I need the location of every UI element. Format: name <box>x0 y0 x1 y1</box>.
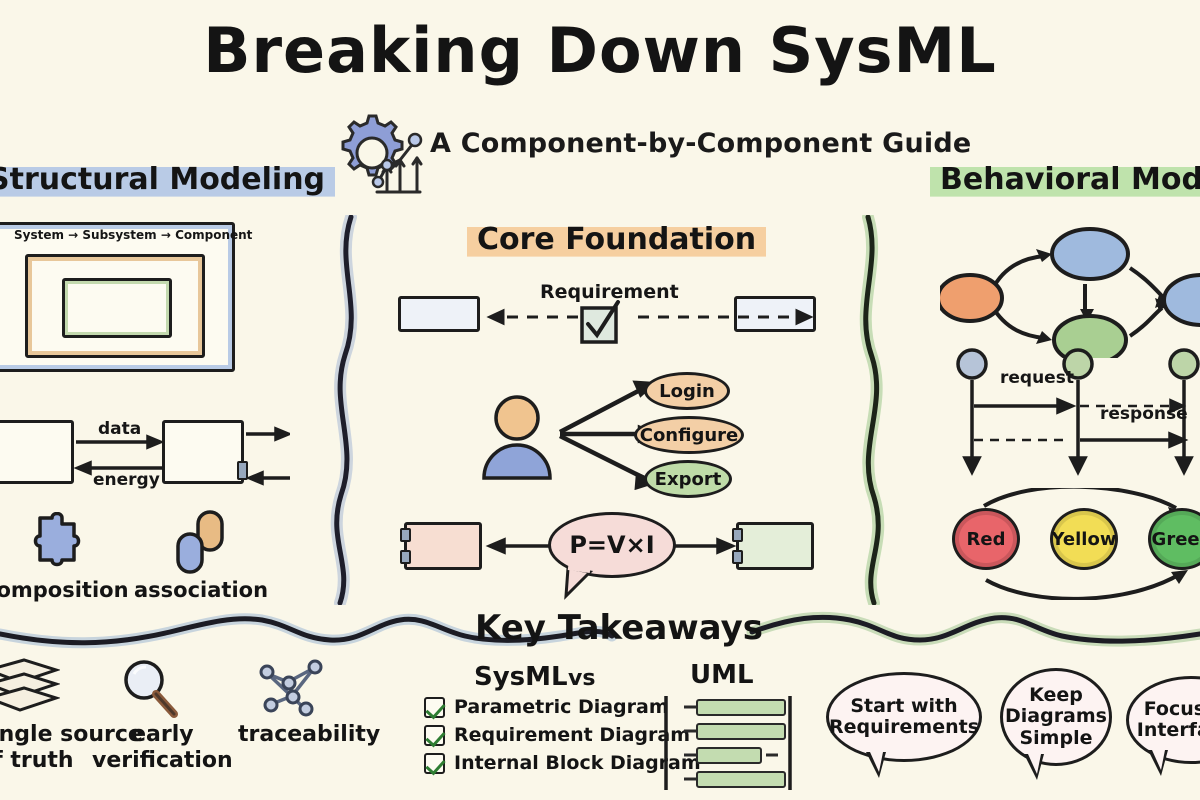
divider-left-wavy <box>315 215 385 605</box>
bdd-inner-box <box>62 278 172 338</box>
state-red[interactable]: Red <box>952 508 1020 570</box>
tip-bubble-keep-diagrams-simple[interactable]: Keep Diagrams Simple <box>1000 668 1112 766</box>
tip-bubble-tail <box>866 752 886 778</box>
divider-right-wavy <box>838 215 908 605</box>
actor-icon <box>478 394 556 480</box>
relationship-label-composition: composition <box>0 578 129 602</box>
parametric-constraint-text: P=V×I <box>569 531 654 559</box>
check-icon <box>424 725 445 746</box>
comparison-item: Requirement Diagram <box>424 724 701 746</box>
sequence-message-request: request <box>1000 368 1074 388</box>
state-yellow[interactable]: Yellow <box>1050 508 1118 570</box>
use-case-label: Login <box>659 381 715 402</box>
puzzle-piece-icon <box>18 512 82 576</box>
check-icon <box>424 697 445 718</box>
requirement-trace-arrows <box>478 300 818 336</box>
uml-bar <box>696 747 762 764</box>
uml-bar <box>696 699 786 716</box>
takeaways-heading: Key Takeaways <box>475 608 763 648</box>
section-heading-structural: Structural Modeling <box>0 162 335 200</box>
parametric-port <box>400 550 411 564</box>
parametric-block-right <box>736 522 814 570</box>
use-case-login[interactable]: Login <box>644 372 730 410</box>
section-heading-behavioral: Behavioral Modeling <box>930 162 1200 200</box>
gear-chart-icon <box>325 108 425 200</box>
state-label: Yellow <box>1052 529 1117 550</box>
chain-link-icon <box>168 508 232 578</box>
ibd-flow-back-label: energy <box>93 470 160 490</box>
section-heading-core: Core Foundation <box>467 222 766 260</box>
use-case-configure[interactable]: Configure <box>634 416 744 454</box>
comparison-label-uml: UML <box>690 660 754 690</box>
document-stack-icon <box>0 658 60 718</box>
benefit-label-traceability: traceability <box>238 722 380 748</box>
tip-bubble-start-with-requirements[interactable]: Start with Requirements <box>826 672 982 762</box>
use-case-label: Export <box>655 469 722 490</box>
comparison-item-list: Parametric Diagram Requirement Diagram I… <box>424 696 701 780</box>
magnifier-icon <box>118 656 180 718</box>
page-title: Breaking Down SysML <box>0 14 1200 87</box>
tip-bubble-tail <box>1148 750 1168 776</box>
parametric-bubble-tail <box>560 566 600 600</box>
use-case-label: Configure <box>640 425 739 446</box>
comparison-item: Internal Block Diagram <box>424 752 701 774</box>
traceability-graph-icon <box>258 656 328 718</box>
parametric-block-left <box>404 522 482 570</box>
state-label: Red <box>967 529 1006 550</box>
page-subtitle: A Component-by-Component Guide <box>430 128 971 159</box>
comparison-item-label: Parametric Diagram <box>454 696 669 718</box>
comparison-label-sysml: SysML <box>474 662 568 692</box>
requirement-block-left <box>398 296 480 332</box>
check-icon <box>424 753 445 774</box>
uml-bar <box>696 723 786 740</box>
use-case-export[interactable]: Export <box>644 460 732 498</box>
activity-diagram <box>940 218 1200 358</box>
uml-bar <box>696 771 786 788</box>
tip-bubble-tail <box>1024 754 1044 780</box>
relationship-label-association: association <box>134 578 268 602</box>
parametric-port <box>400 528 411 542</box>
infographic-canvas: Breaking Down SysML A Component-by-Compo… <box>0 0 1200 800</box>
bdd-caption: System → Subsystem → Component <box>14 228 252 242</box>
sequence-message-response: response <box>1100 404 1188 424</box>
comparison-label-vs: vs <box>568 666 595 691</box>
comparison-item: Parametric Diagram <box>424 696 701 718</box>
ibd-flow-forward-label: data <box>98 419 141 439</box>
state-label: Green <box>1152 529 1200 550</box>
comparison-item-label: Requirement Diagram <box>454 724 690 746</box>
benefit-label-early-verification: early verification <box>92 722 233 774</box>
